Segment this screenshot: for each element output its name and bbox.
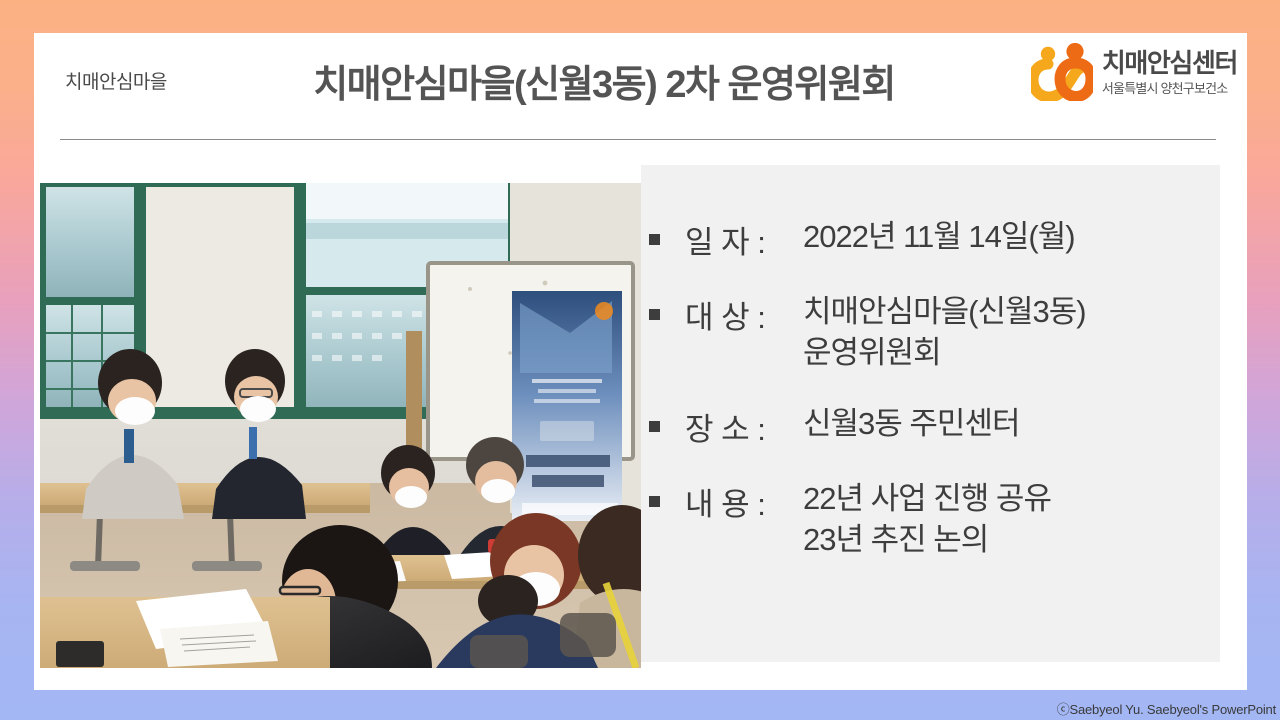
info-row-date: 일 자 : 2022년 11월 14일(월): [641, 217, 1220, 262]
info-value-place: 신월3동 주민센터: [803, 404, 1020, 445]
info-value-target: 치매안심마을(신월3동) 운영위원회: [803, 292, 1086, 374]
logo-text-block: 치매안심센터 서울특별시 양천구보건소: [1102, 50, 1237, 95]
info-label-target: 대 상 :: [685, 292, 803, 337]
info-value-date: 2022년 11월 14일(월): [803, 217, 1075, 258]
footer-credit: ⓒSaebyeol Yu. Saebyeol's PowerPoint: [1057, 699, 1276, 718]
logo-subtitle: 서울특별시 양천구보건소: [1102, 82, 1237, 95]
info-value-content: 22년 사업 진행 공유 23년 추진 논의: [803, 479, 1051, 561]
info-label-date: 일 자 :: [685, 217, 803, 262]
header-divider: [60, 139, 1216, 140]
bullet-square-icon: [649, 496, 660, 507]
slide-background: 치매안심마을 치매안심마을(신월3동) 2차 운영위원회 치매안심센터 서울특별…: [0, 0, 1280, 720]
bullet-square-icon: [649, 421, 660, 432]
info-label-content: 내 용 :: [685, 479, 803, 524]
bullet-square-icon: [649, 309, 660, 320]
slide-header: 치매안심마을 치매안심마을(신월3동) 2차 운영위원회 치매안심센터 서울특별…: [34, 33, 1247, 139]
slide-card: 치매안심마을 치매안심마을(신월3동) 2차 운영위원회 치매안심센터 서울특별…: [34, 33, 1247, 690]
bullet-square-icon: [649, 234, 660, 245]
photo-banner: [512, 291, 622, 521]
info-panel: 일 자 : 2022년 11월 14일(월) 대 상 : 치매안심마을(신월3동…: [641, 165, 1220, 662]
eyebrow-label: 치매안심마을: [65, 67, 167, 94]
center-logo: 치매안심센터 서울특별시 양천구보건소: [1031, 43, 1237, 101]
info-row-place: 장 소 : 신월3동 주민센터: [641, 404, 1220, 449]
two-figures-infinity-logo-icon: [1031, 43, 1093, 101]
page-title: 치매안심마을(신월3동) 2차 운영위원회: [224, 53, 984, 108]
info-row-content: 내 용 : 22년 사업 진행 공유 23년 추진 논의: [641, 479, 1220, 561]
info-row-target: 대 상 : 치매안심마을(신월3동) 운영위원회: [641, 292, 1220, 374]
meeting-photo: [40, 183, 641, 668]
info-label-place: 장 소 :: [685, 404, 803, 449]
logo-title: 치매안심센터: [1102, 50, 1237, 76]
